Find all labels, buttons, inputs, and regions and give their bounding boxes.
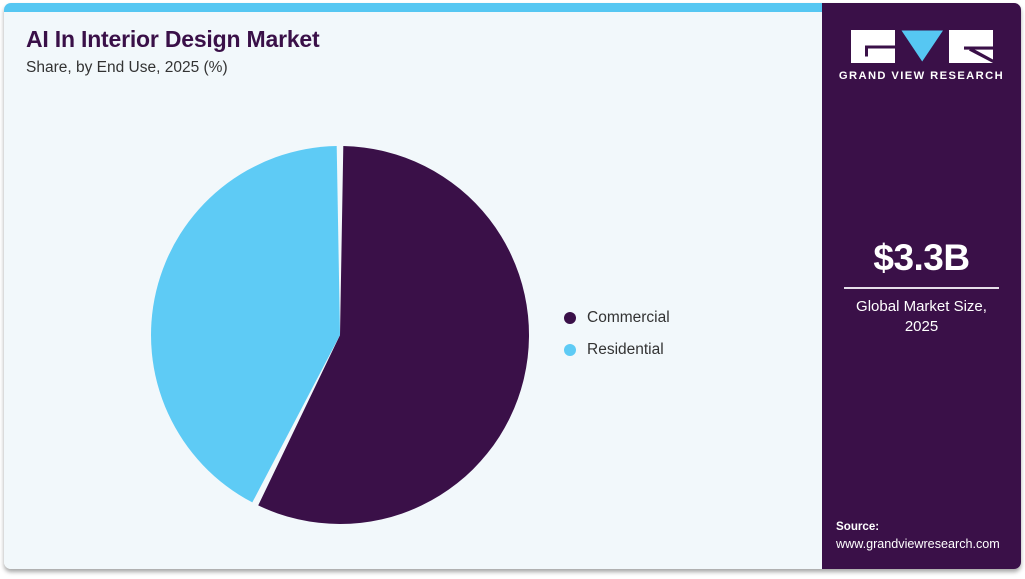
legend: Commercial Residential	[564, 302, 804, 366]
chart-panel: AI In Interior Design Market Share, by E…	[4, 3, 822, 569]
stat-divider	[844, 287, 999, 289]
page-title: AI In Interior Design Market	[26, 27, 766, 52]
brand-sidebar: GRAND VIEW RESEARCH $3.3B Global Market …	[822, 3, 1021, 569]
accent-bar	[4, 3, 822, 12]
infographic-card: AI In Interior Design Market Share, by E…	[4, 3, 1021, 569]
legend-swatch-commercial	[564, 312, 576, 324]
stat-value: $3.3B	[822, 239, 1021, 278]
source-url[interactable]: www.grandviewresearch.com	[836, 536, 1021, 553]
legend-swatch-residential	[564, 344, 576, 356]
legend-label-commercial: Commercial	[587, 309, 670, 327]
pie-slices	[151, 146, 529, 524]
page-subtitle: Share, by End Use, 2025 (%)	[26, 59, 766, 77]
stat-caption: Global Market Size, 2025	[822, 297, 1021, 337]
source-label: Source:	[836, 519, 1021, 536]
brand-logo: GRAND VIEW RESEARCH	[822, 30, 1021, 82]
legend-item-residential[interactable]: Residential	[564, 334, 804, 366]
legend-label-residential: Residential	[587, 341, 664, 359]
brand-wordmark: GRAND VIEW RESEARCH	[822, 70, 1021, 82]
legend-item-commercial[interactable]: Commercial	[564, 302, 804, 334]
stat-block: $3.3B Global Market Size, 2025	[822, 239, 1021, 336]
pie-chart	[144, 139, 536, 531]
source-block: Source: www.grandviewresearch.com	[836, 519, 1021, 553]
gvr-logo-icon	[851, 30, 993, 63]
pie-chart-svg	[144, 139, 536, 531]
title-block: AI In Interior Design Market Share, by E…	[26, 27, 766, 77]
